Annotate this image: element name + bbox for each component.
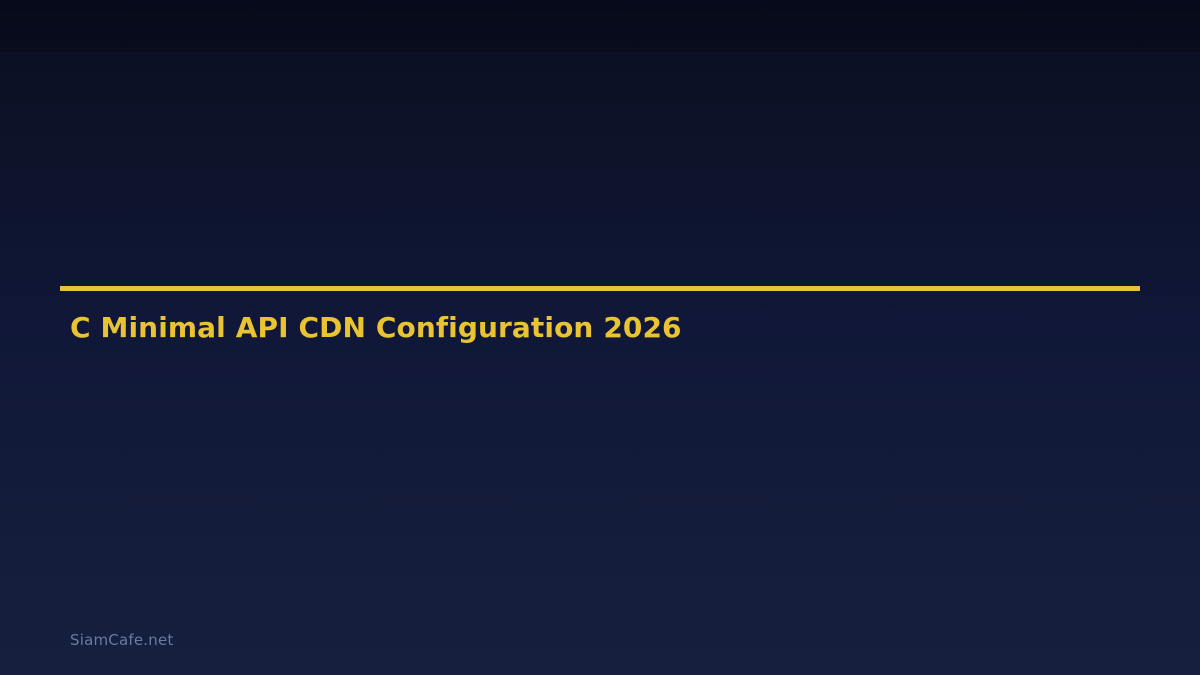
top-band-overlay bbox=[0, 0, 1200, 52]
page-title: C Minimal API CDN Configuration 2026 bbox=[70, 312, 1140, 343]
footer: SiamCafe.net bbox=[70, 630, 173, 649]
footer-brand-label: SiamCafe.net bbox=[70, 631, 173, 649]
slide-canvas: C Minimal API CDN Configuration 2026 Sia… bbox=[0, 0, 1200, 675]
title-block: C Minimal API CDN Configuration 2026 bbox=[60, 286, 1140, 343]
accent-rule bbox=[60, 286, 1140, 291]
